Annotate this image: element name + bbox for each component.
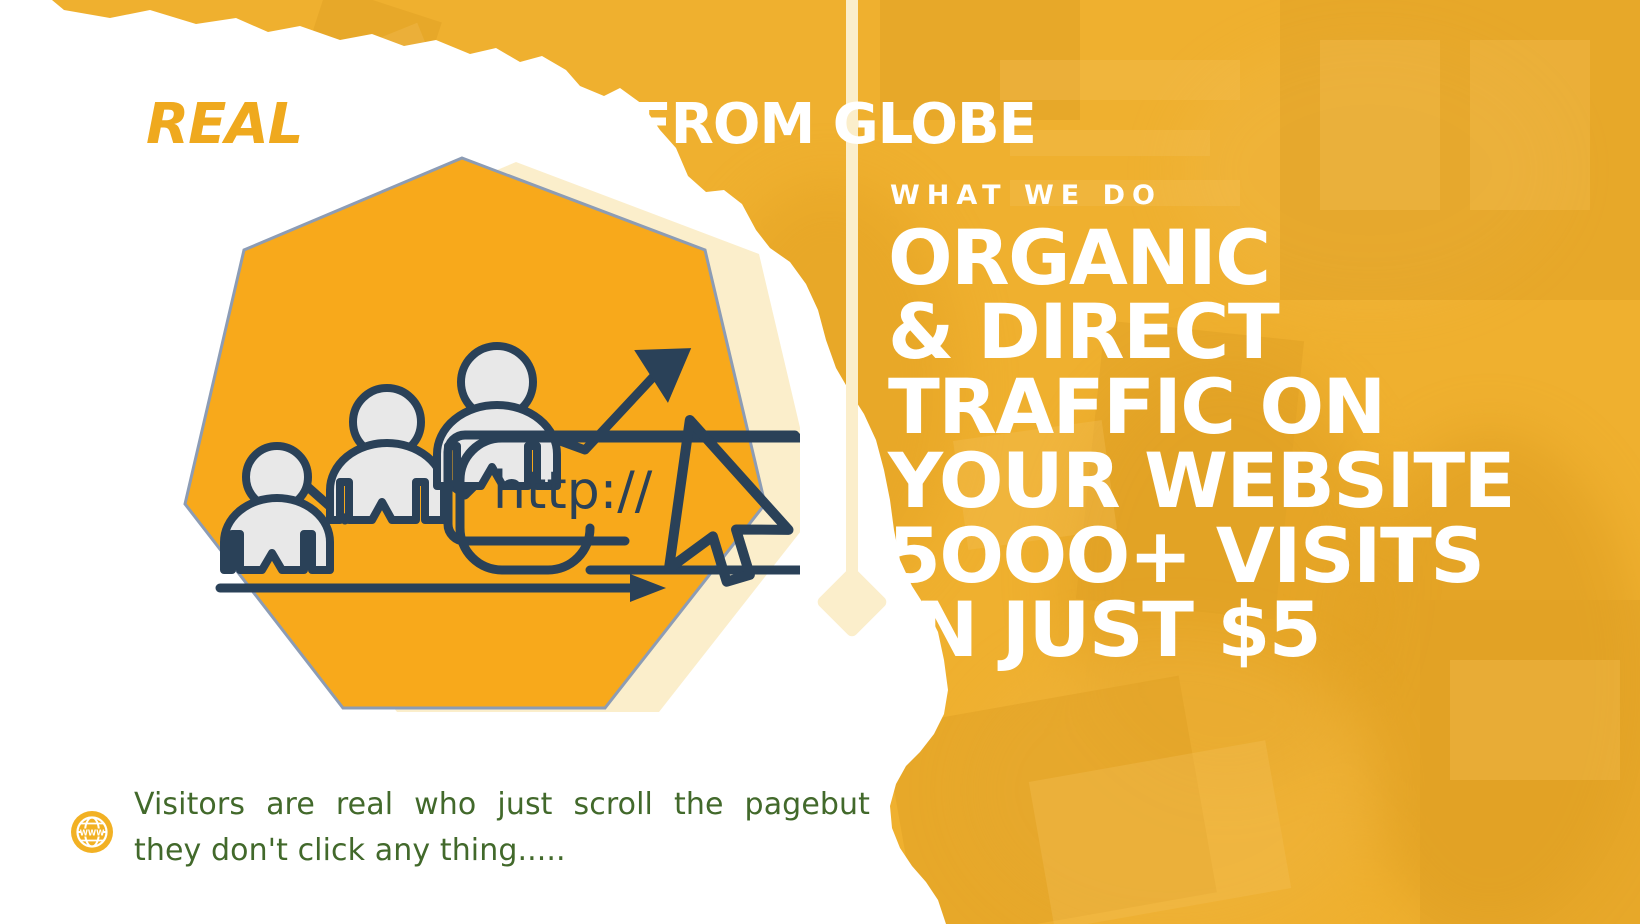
caption-line-1: Visitors are real who just scroll the pa…: [134, 782, 870, 828]
section-eyebrow: WHAT WE DO: [890, 180, 1588, 211]
caption-text: Visitors are real who just scroll the pa…: [134, 782, 870, 873]
globe-www-icon: WWW: [70, 810, 114, 854]
vertical-connector-line: [846, 0, 858, 600]
headline: ORGANIC & DIRECT TRAFFIC ON YOUR WEBSITE…: [888, 221, 1588, 668]
heptagon-illustration: http://: [160, 150, 800, 750]
url-label: http://: [493, 461, 653, 521]
right-text-column: WHAT WE DO ORGANIC & DIRECT TRAFFIC ON Y…: [888, 180, 1588, 668]
headline-line: TRAFFIC ON: [888, 370, 1588, 444]
headline-line: YOUR WEBSITE: [888, 444, 1588, 518]
page-title-highlight: REAL: [146, 92, 302, 157]
slide-canvas: http:// REALVISITORS FROM GLOBE WHAT WE …: [0, 0, 1640, 924]
headline-line: IN JUST $5: [888, 593, 1588, 667]
headline-line: 5OOO+ VISITS: [888, 519, 1588, 593]
footer-caption: WWW Visitors are real who just scroll th…: [70, 782, 870, 873]
svg-text:WWW: WWW: [80, 828, 106, 837]
page-title: REALVISITORS FROM GLOBE: [146, 92, 1036, 157]
headline-line: ORGANIC: [888, 221, 1588, 295]
headline-line: & DIRECT: [888, 295, 1588, 369]
caption-line-2: they don't click any thing.....: [134, 828, 870, 874]
page-title-rest: VISITORS FROM GLOBE: [328, 92, 1036, 157]
